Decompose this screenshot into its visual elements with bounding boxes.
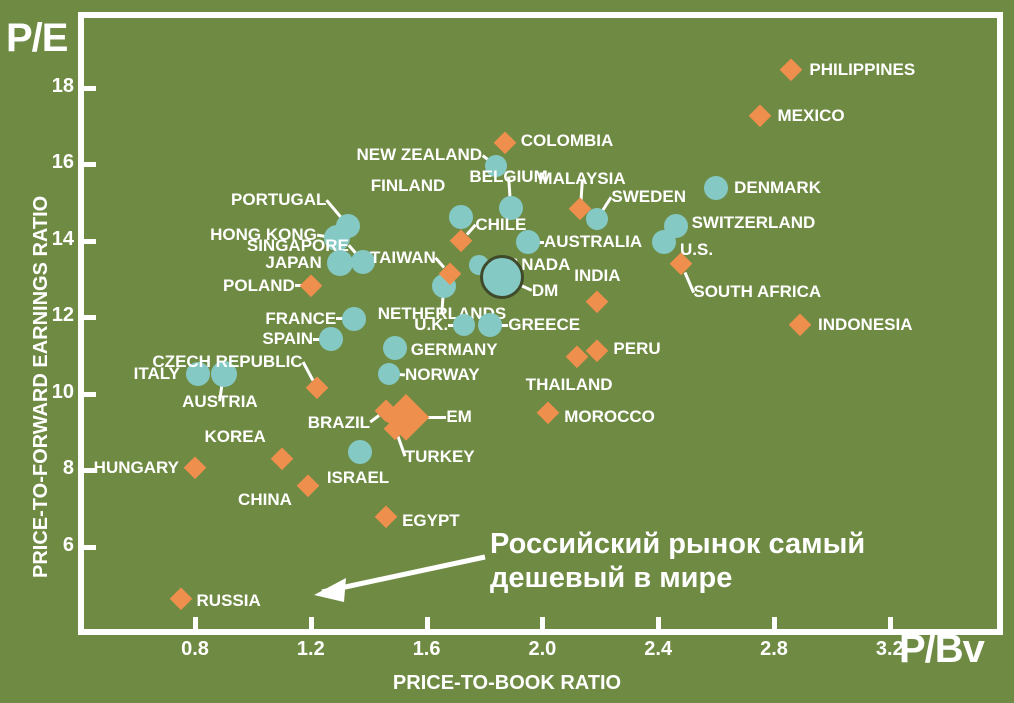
point-label: THAILAND	[526, 375, 613, 395]
point-label: FINLAND	[371, 176, 446, 196]
point-label: HUNGARY	[94, 458, 179, 478]
y-tick-mark	[84, 86, 96, 91]
point-label: AUSTRIA	[182, 392, 258, 412]
point-label: NEW ZEALAND	[356, 145, 482, 165]
point-label: SPAIN	[262, 329, 313, 349]
data-point-finland[interactable]	[449, 205, 473, 229]
point-label: MEXICO	[778, 106, 845, 126]
point-label: FRANCE	[265, 309, 336, 329]
y-axis-label: PRICE-TO-FORWARD EARNINGS RATIO	[30, 196, 53, 578]
data-point-japan[interactable]	[327, 250, 353, 276]
point-label: ISRAEL	[327, 468, 389, 488]
annotation-text: Российский рынок самый дешевый в мире	[490, 527, 865, 595]
x-tick-mark	[540, 617, 545, 629]
data-point-thailand[interactable]	[566, 346, 589, 369]
y-tick-label: 16	[34, 151, 74, 174]
x-tick-mark	[193, 617, 198, 629]
data-point-dm[interactable]	[480, 255, 524, 299]
y-tick-mark	[84, 392, 96, 397]
point-label: GERMANY	[411, 340, 498, 360]
data-point-peru[interactable]	[586, 340, 609, 363]
data-point-norway[interactable]	[378, 363, 400, 385]
y-tick-mark	[84, 239, 96, 244]
x-tick-mark	[888, 617, 893, 629]
data-point-u-k-[interactable]	[453, 314, 475, 336]
point-label: SOUTH AFRICA	[693, 282, 821, 302]
data-point-mexico[interactable]	[748, 105, 771, 128]
data-point-philippines[interactable]	[780, 59, 803, 82]
data-point-israel[interactable]	[348, 440, 372, 464]
point-label: NORWAY	[405, 365, 480, 385]
point-label: TAIWAN	[370, 248, 436, 268]
data-point-china[interactable]	[296, 475, 319, 498]
point-label: COLOMBIA	[521, 131, 614, 151]
x-tick-mark	[656, 617, 661, 629]
data-point-egypt[interactable]	[375, 505, 398, 528]
point-label: MOROCCO	[564, 407, 655, 427]
point-label: GREECE	[508, 315, 580, 335]
y-tick-label: 18	[34, 75, 74, 98]
leader-line	[301, 361, 314, 381]
point-label: SWEDEN	[611, 187, 686, 207]
x-tick-label: 2.4	[628, 638, 688, 661]
point-label: CZECH REPUBLIC	[152, 352, 302, 372]
point-label: POLAND	[223, 276, 295, 296]
data-point-czech-republic[interactable]	[305, 376, 328, 399]
x-tick-mark	[772, 617, 777, 629]
point-label: U.K.	[414, 315, 448, 335]
point-label: PORTUGAL	[231, 190, 326, 210]
point-label: DM	[532, 281, 558, 301]
x-tick-label: 2.0	[512, 638, 572, 661]
data-point-indonesia[interactable]	[789, 314, 812, 337]
x-tick-mark	[425, 617, 430, 629]
data-point-india[interactable]	[586, 291, 609, 314]
data-point-france[interactable]	[342, 307, 366, 331]
point-label: CHINA	[238, 490, 292, 510]
data-point-denmark[interactable]	[704, 176, 728, 200]
point-label: DENMARK	[734, 178, 821, 198]
point-label: EM	[446, 407, 472, 427]
annotation-line-2: дешевый в мире	[490, 561, 865, 595]
data-point-korea[interactable]	[270, 447, 293, 470]
point-label: SWITZERLAND	[692, 213, 816, 233]
point-label: PERU	[613, 339, 660, 359]
plot-area: 6810121416180.81.21.62.02.42.83.2NEW ZEA…	[0, 0, 1014, 703]
x-axis-label: PRICE-TO-BOOK RATIO	[0, 672, 1014, 695]
x-tick-label: 1.6	[397, 638, 457, 661]
point-label: EGYPT	[402, 511, 460, 531]
point-label: BELGIUM	[469, 167, 547, 187]
x-tick-label: 1.2	[281, 638, 341, 661]
x-tick-label: 2.8	[744, 638, 804, 661]
point-label: MALAYSIA	[538, 169, 625, 189]
point-label: JAPAN	[265, 253, 321, 273]
y-tick-mark	[84, 545, 96, 550]
data-point-morocco[interactable]	[537, 401, 560, 424]
point-label: KOREA	[204, 427, 265, 447]
y-tick-mark	[84, 315, 96, 320]
point-label: INDIA	[574, 266, 620, 286]
y-axis-corner-title: P/E	[6, 18, 67, 58]
data-point-poland[interactable]	[299, 274, 322, 297]
point-label: TURKEY	[405, 447, 475, 467]
annotation-line-1: Российский рынок самый	[490, 527, 865, 561]
point-label: BRAZIL	[308, 413, 370, 433]
x-tick-label: 0.8	[165, 638, 225, 661]
data-point-greece[interactable]	[478, 313, 502, 337]
data-point-spain[interactable]	[319, 327, 343, 351]
point-label: AUSTRALIA	[544, 232, 642, 252]
chart-root: 6810121416180.81.21.62.02.42.83.2NEW ZEA…	[0, 0, 1014, 703]
data-point-colombia[interactable]	[493, 131, 516, 154]
leader-line	[369, 415, 380, 424]
point-label: CHILE	[475, 215, 526, 235]
data-point-hungary[interactable]	[183, 457, 206, 480]
annotation-arrow	[300, 552, 490, 612]
data-point-sweden[interactable]	[586, 208, 608, 230]
point-label: RUSSIA	[197, 591, 261, 611]
data-point-russia[interactable]	[169, 588, 192, 611]
point-label: INDONESIA	[818, 315, 912, 335]
x-tick-mark	[309, 617, 314, 629]
x-axis-corner-title: P/Bv	[899, 629, 984, 669]
data-point-u-s-[interactable]	[652, 230, 676, 254]
data-point-germany[interactable]	[383, 336, 407, 360]
y-tick-mark	[84, 162, 96, 167]
point-label: PHILIPPINES	[809, 60, 915, 80]
